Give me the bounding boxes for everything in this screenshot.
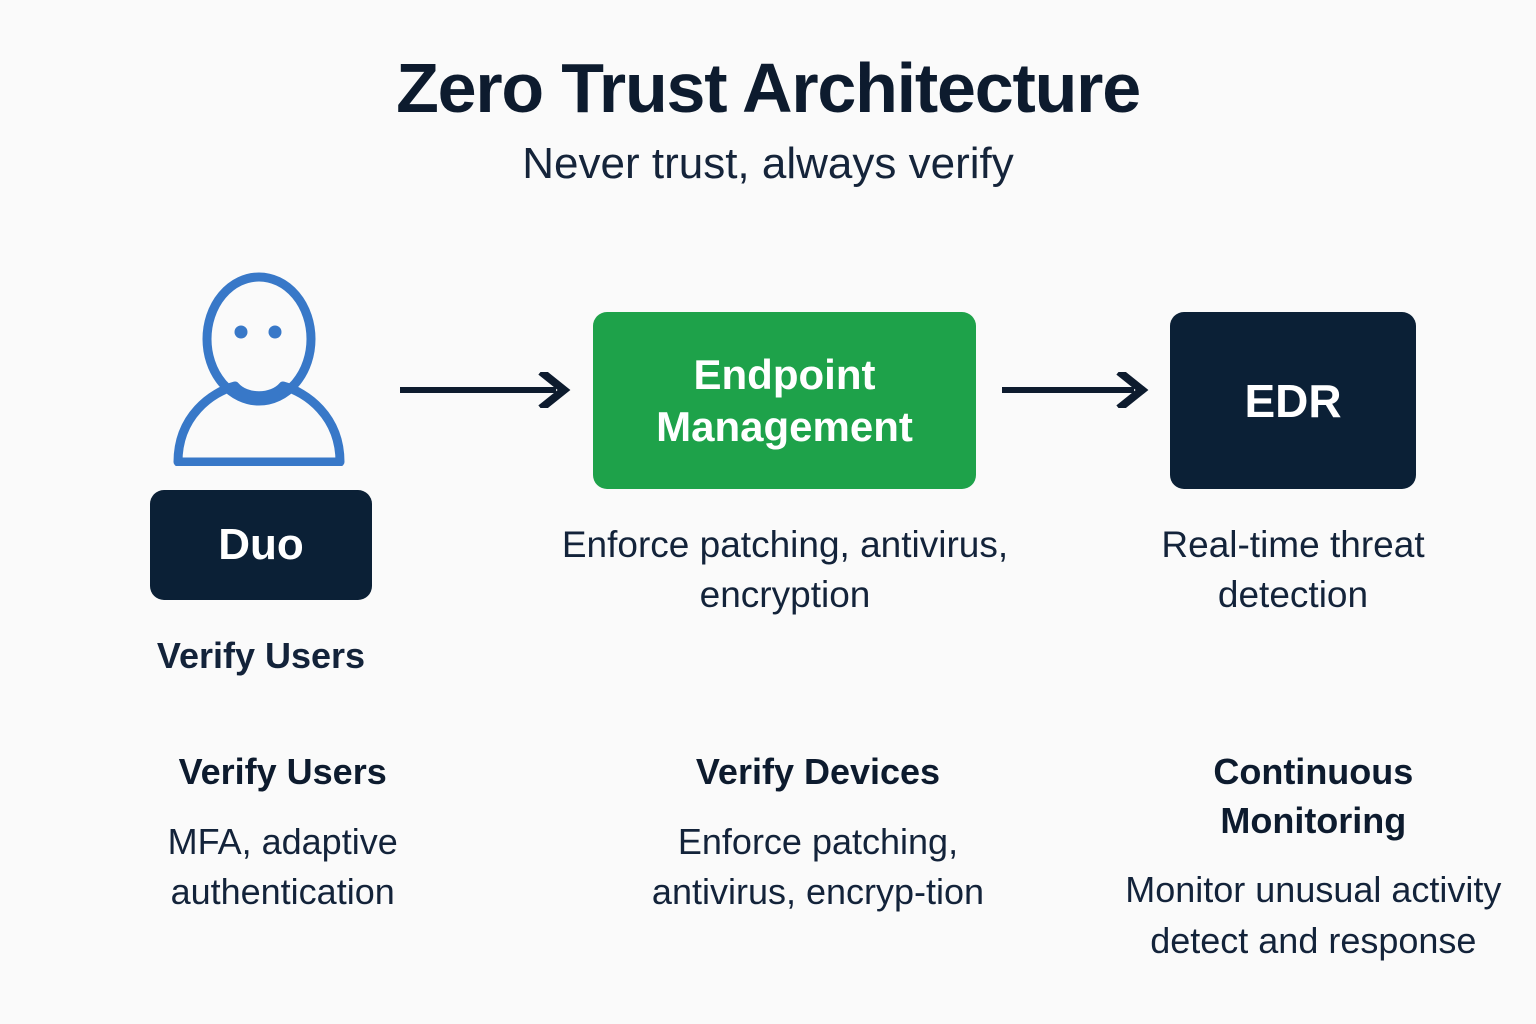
endpoint-management-chip-label: Endpoint Management bbox=[656, 349, 913, 451]
pillar-verify-devices: Verify Devices Enforce patching, antivir… bbox=[545, 748, 1090, 966]
endpoint-management-chip[interactable]: Endpoint Management bbox=[593, 312, 976, 489]
pillar-description: Monitor unusual activity detect and resp… bbox=[1121, 865, 1506, 966]
pillar-verify-users: Verify Users MFA, adaptive authenticatio… bbox=[0, 748, 545, 966]
arrow-right-icon bbox=[1000, 372, 1152, 408]
endpoint-chip-line-2: Management bbox=[656, 403, 913, 450]
pillar-title: Verify Users bbox=[90, 748, 475, 797]
page-subtitle: Never trust, always verify bbox=[0, 140, 1536, 188]
diagram-canvas: Zero Trust Architecture Never trust, alw… bbox=[0, 0, 1536, 1024]
duo-chip[interactable]: Duo bbox=[150, 490, 372, 600]
user-icon bbox=[160, 266, 370, 466]
pillar-description: Enforce patching, antivirus, encryp-tion bbox=[625, 817, 1010, 918]
endpoint-management-caption: Enforce patching, antivirus, encryption bbox=[560, 520, 1010, 620]
page-title: Zero Trust Architecture bbox=[0, 52, 1536, 126]
diagram-header: Zero Trust Architecture Never trust, alw… bbox=[0, 52, 1536, 188]
edr-chip[interactable]: EDR bbox=[1170, 312, 1416, 489]
duo-caption: Verify Users bbox=[120, 632, 402, 681]
endpoint-chip-line-1: Endpoint bbox=[694, 351, 876, 398]
pillar-continuous-monitoring: Continuous Monitoring Monitor unusual ac… bbox=[1091, 748, 1536, 966]
pillar-description: MFA, adaptive authentication bbox=[90, 817, 475, 918]
duo-chip-label: Duo bbox=[218, 520, 304, 570]
pillars-row: Verify Users MFA, adaptive authenticatio… bbox=[0, 748, 1536, 966]
arrow-right-icon bbox=[398, 372, 574, 408]
edr-caption: Real-time threat detection bbox=[1140, 520, 1446, 620]
pillar-title: Continuous Monitoring bbox=[1121, 748, 1506, 845]
edr-chip-label: EDR bbox=[1244, 374, 1341, 428]
pillar-title: Verify Devices bbox=[625, 748, 1010, 797]
